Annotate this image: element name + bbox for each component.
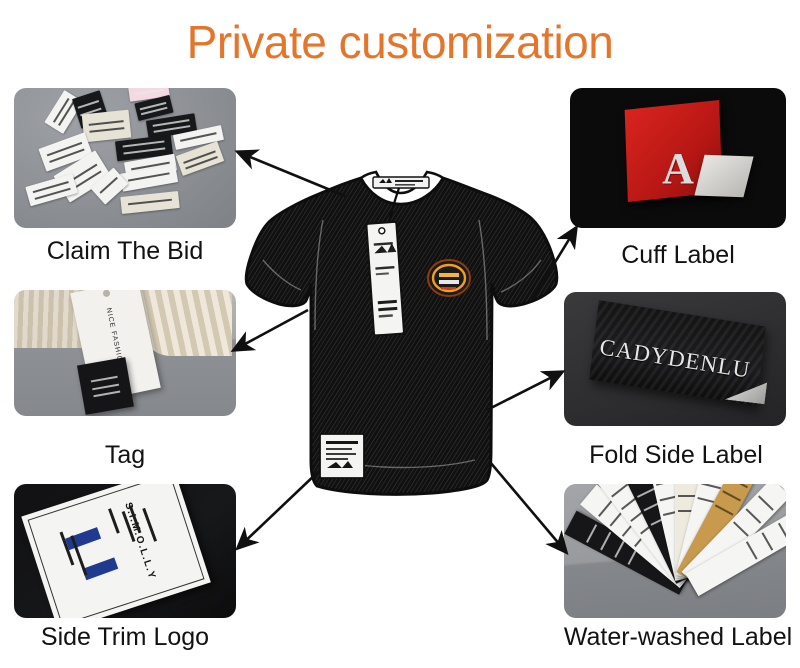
panel-tag[interactable]: NICE FASHION (14, 290, 236, 416)
photo-scattered-woven-labels (14, 88, 236, 228)
caption-side-trim-logo: Side Trim Logo (8, 622, 242, 652)
photo-fold-side-label: CADYDENLU (564, 292, 786, 426)
photo-fan-of-care-labels (564, 484, 786, 618)
side-seam-label (320, 434, 364, 478)
caption-fold-side-label: Fold Side Label (560, 440, 792, 470)
photo-red-cuff-label: A (570, 88, 786, 228)
panel-side-trim-logo[interactable]: S.I.M.O.L.L.Y (14, 484, 236, 618)
panel-fold-side-label[interactable]: CADYDENLU (564, 292, 786, 426)
page-title: Private customization (0, 14, 800, 70)
black-hangtag-card (77, 357, 134, 415)
t-shirt-sketch (243, 160, 561, 500)
neck-label (373, 177, 429, 188)
caption-water-washed-label: Water-washed Label (556, 622, 800, 652)
private-customization-infographic: Private customization Claim The Bid (0, 0, 800, 668)
cuff-logo-glyph: A (662, 147, 694, 191)
photo-printed-care-label: S.I.M.O.L.L.Y (14, 484, 236, 618)
care-label-card: S.I.M.O.L.L.Y (21, 484, 210, 618)
label-fold-corner (694, 155, 753, 197)
shirt-body (246, 178, 557, 494)
caption-cuff-label: Cuff Label (570, 240, 786, 270)
caption-tag: Tag (14, 440, 236, 470)
panel-cuff-label[interactable]: A (570, 88, 786, 228)
care-label-brand-text: S.I.M.O.L.L.Y (122, 502, 157, 582)
hangtag-hole (102, 290, 110, 298)
chest-badge (428, 260, 470, 296)
panel-claim-the-bid[interactable] (14, 88, 236, 228)
knit-fabric-right (138, 290, 231, 356)
caption-claim-the-bid: Claim The Bid (14, 236, 236, 266)
panel-water-washed-label[interactable] (564, 484, 786, 618)
photo-paper-hangtag: NICE FASHION (14, 290, 236, 416)
